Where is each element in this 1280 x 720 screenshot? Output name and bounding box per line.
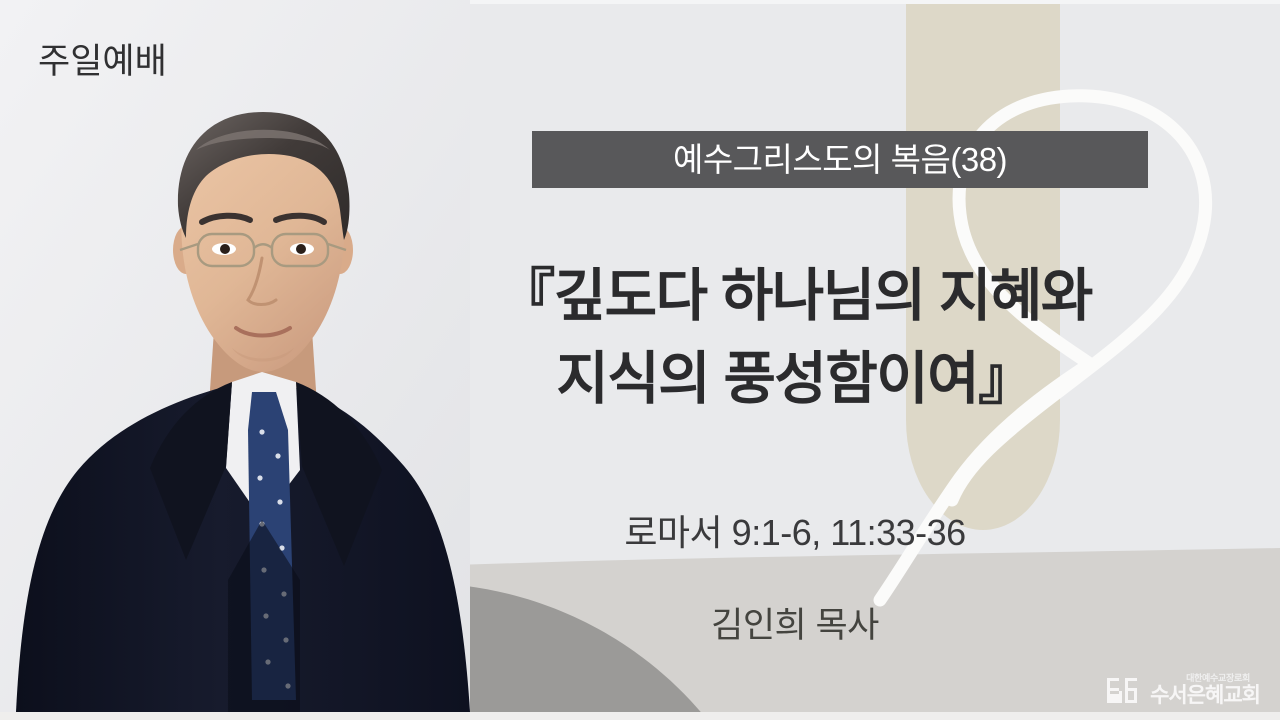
church-emblem-icon: [1106, 675, 1142, 706]
sermon-slide: 주일예배 예수그리스도의 복음(38) 『깊도다 하나님의 지혜와 지식의 풍성…: [0, 0, 1280, 720]
pupil-right: [296, 244, 306, 254]
sermon-title-line-2: 지식의 풍성함이여』: [400, 338, 1190, 421]
scripture-reference: 로마서 9:1-6, 11:33-36: [400, 504, 1190, 556]
church-logo: 대한예수교장로회 수서은혜교회: [1106, 674, 1260, 706]
sermon-title-line-1: 『깊도다 하나님의 지혜와: [400, 255, 1190, 338]
service-category-label: 주일예배: [38, 33, 167, 84]
series-title-banner: 예수그리스도의 복음(38): [532, 131, 1148, 188]
pupil-left: [220, 244, 230, 254]
church-logo-text: 대한예수교장로회 수서은혜교회: [1150, 674, 1260, 706]
denomination-name: 대한예수교장로회: [1186, 674, 1250, 683]
series-title-text: 예수그리스도의 복음(38): [673, 143, 1007, 176]
sermon-title: 『깊도다 하나님의 지혜와 지식의 풍성함이여』: [400, 255, 1190, 420]
speaker-name: 김인희 목사: [400, 597, 1190, 648]
church-name: 수서은혜교회: [1150, 685, 1260, 706]
